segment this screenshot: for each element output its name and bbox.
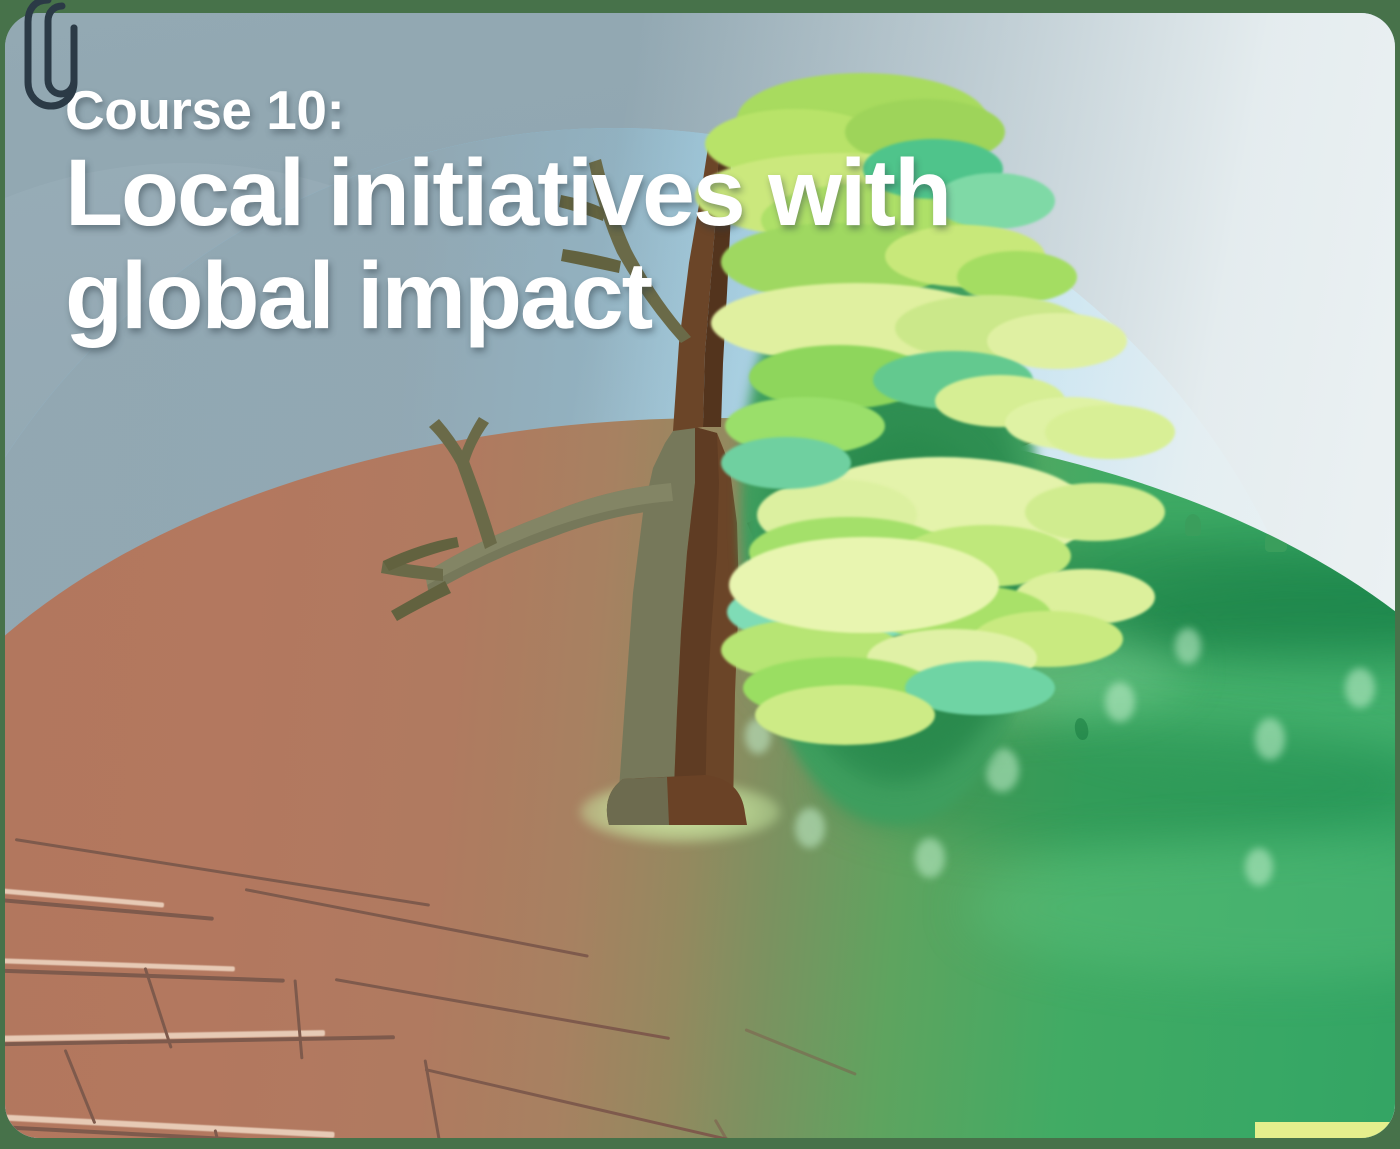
title-block: Course 10: Local initiatives with global… (65, 83, 1155, 347)
course-cover-card: Course 10: Local initiatives with global… (5, 13, 1395, 1138)
leaf-cluster (721, 437, 851, 489)
leaf-cluster (1025, 483, 1165, 541)
leaf-cluster (729, 537, 999, 633)
paperclip-icon (18, 0, 88, 124)
footer-accent-chip (1255, 1122, 1395, 1138)
leaf-cluster (755, 685, 935, 745)
leaf-cluster (1045, 405, 1175, 459)
page-title: Local initiatives with global impact (65, 142, 1155, 347)
course-kicker: Course 10: (65, 83, 1155, 138)
